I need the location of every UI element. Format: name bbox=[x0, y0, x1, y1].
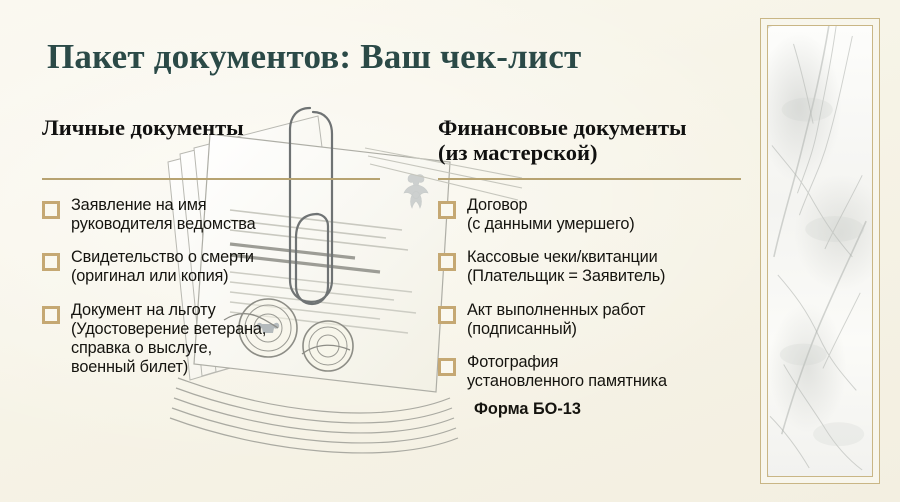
right-column-divider bbox=[438, 178, 741, 180]
checkbox-icon[interactable] bbox=[438, 201, 456, 219]
list-item[interactable]: Акт выполненных работ (подписанный) bbox=[438, 301, 748, 339]
list-item[interactable]: Фотография установленного памятника bbox=[438, 353, 748, 391]
left-column: Личные документы Заявление на имя руково… bbox=[42, 115, 387, 377]
checkbox-icon[interactable] bbox=[42, 306, 60, 324]
list-item-label: Документ на льготу (Удостоверение ветера… bbox=[71, 301, 266, 378]
checkbox-icon[interactable] bbox=[438, 358, 456, 376]
checkbox-icon[interactable] bbox=[42, 253, 60, 271]
left-checklist: Заявление на имя руководителя ведомства … bbox=[42, 196, 387, 377]
list-item[interactable]: Кассовые чеки/квитанции (Плательщик = За… bbox=[438, 248, 748, 286]
list-item-label: Кассовые чеки/квитанции (Плательщик = За… bbox=[467, 248, 665, 286]
list-item[interactable]: Документ на льготу (Удостоверение ветера… bbox=[42, 301, 387, 378]
right-column: Финансовые документы (из мастерской) Дог… bbox=[438, 115, 748, 419]
checkbox-icon[interactable] bbox=[42, 201, 60, 219]
list-item-label: Договор (с данными умершего) bbox=[467, 196, 635, 234]
slide-root: Пакет документов: Ваш чек-лист Личные до… bbox=[0, 0, 900, 502]
form-note: Форма БО-13 bbox=[474, 400, 748, 419]
right-checklist: Договор (с данными умершего) Кассовые че… bbox=[438, 196, 748, 391]
left-column-heading: Личные документы bbox=[42, 115, 387, 177]
list-item[interactable]: Заявление на имя руководителя ведомства bbox=[42, 196, 387, 234]
marble-panel-inner bbox=[767, 25, 873, 477]
checkbox-icon[interactable] bbox=[438, 253, 456, 271]
marble-texture-panel bbox=[760, 18, 880, 484]
page-title: Пакет документов: Ваш чек-лист bbox=[47, 37, 581, 77]
list-item[interactable]: Договор (с данными умершего) bbox=[438, 196, 748, 234]
list-item[interactable]: Свидетельство о смерти (оригинал или коп… bbox=[42, 248, 387, 286]
list-item-label: Фотография установленного памятника bbox=[467, 353, 667, 391]
list-item-label: Заявление на имя руководителя ведомства bbox=[71, 196, 256, 234]
list-item-label: Свидетельство о смерти (оригинал или коп… bbox=[71, 248, 254, 286]
checkbox-icon[interactable] bbox=[438, 306, 456, 324]
list-item-label: Акт выполненных работ (подписанный) bbox=[467, 301, 645, 339]
left-column-divider bbox=[42, 178, 380, 180]
right-column-heading: Финансовые документы (из мастерской) bbox=[438, 115, 748, 177]
